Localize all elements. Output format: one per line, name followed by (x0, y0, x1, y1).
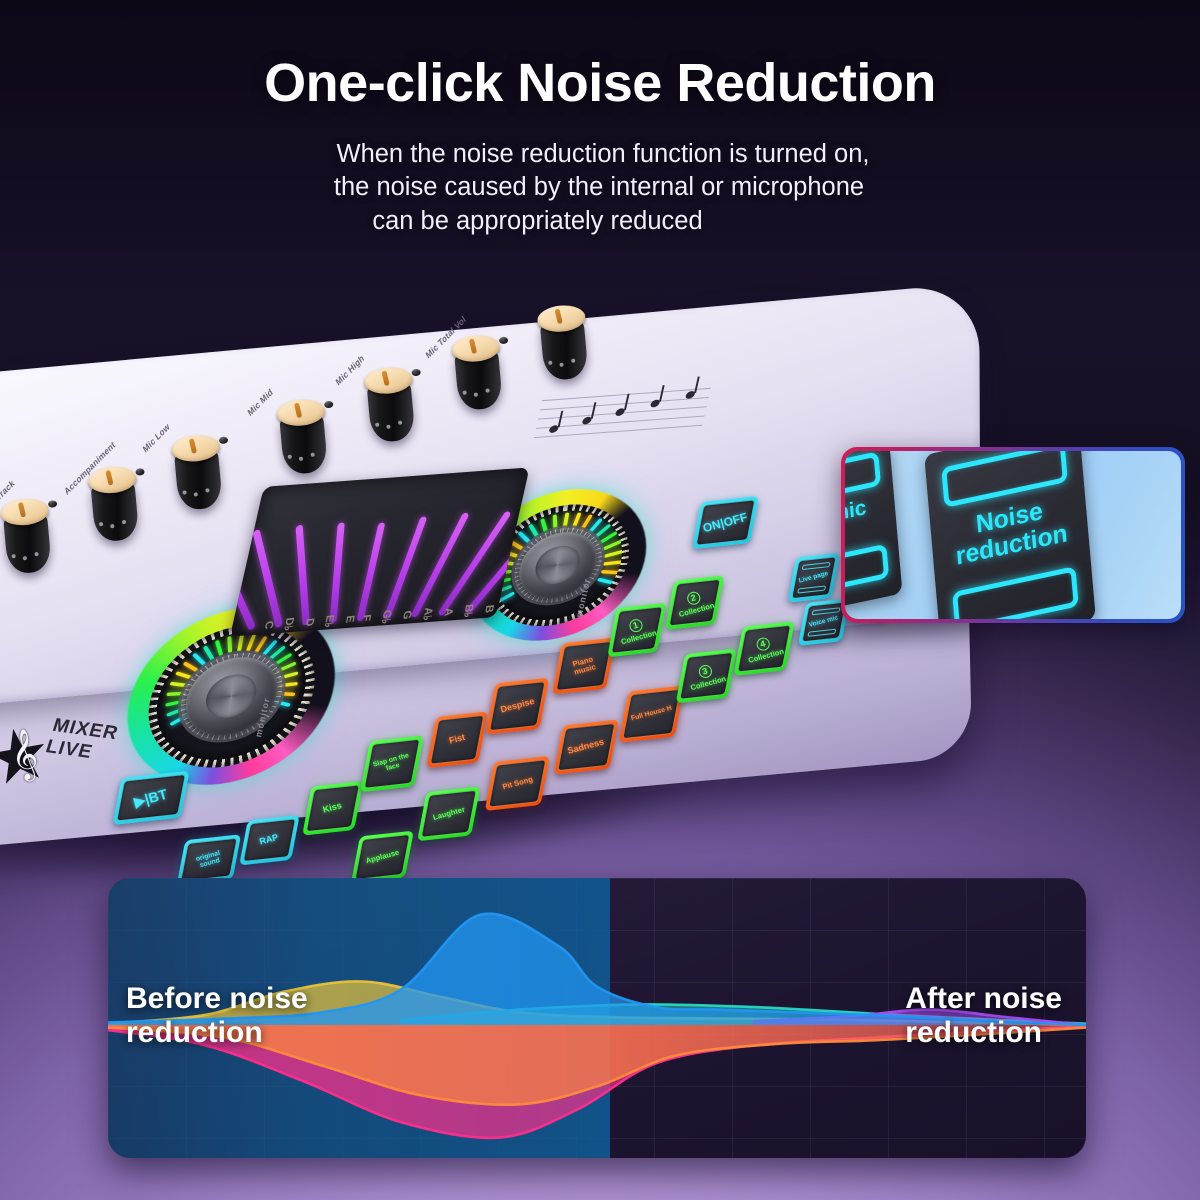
note-scale-letter: A♭ (420, 606, 436, 621)
note-scale-letter: G♭ (378, 609, 394, 624)
pad-face: Pit Song (488, 759, 546, 807)
pad-collection-3[interactable]: 3Collection (676, 649, 737, 704)
magnifier-callout: mic Noise reduction (841, 447, 1185, 623)
knob-label: Mic Low (141, 421, 171, 455)
pad-face: Laughter (421, 790, 477, 838)
music-staff-decoration-right (532, 388, 711, 445)
pad-label: original sound (185, 847, 233, 873)
callout-outline-bottom (952, 566, 1079, 619)
pad-label: 3Collection (686, 660, 727, 691)
pad-number-badge: 3 (697, 663, 713, 679)
pad-on-off-switch[interactable]: ON|OFF (692, 496, 759, 549)
pad-collection-1[interactable]: 1Collection (607, 603, 666, 657)
pad-label: Full House H (630, 705, 672, 723)
subtitle-line-3: can be appropriately reduced (0, 205, 1200, 238)
after-label-line1: After noise (905, 982, 1062, 1015)
display-ray (230, 536, 256, 631)
note-scale-letter: E (343, 615, 356, 624)
note-scale-letter: B (482, 604, 496, 613)
pad-face: Voice mic (801, 602, 846, 643)
pad-label: Applause (365, 849, 400, 866)
pad-label: ON|OFF (702, 511, 749, 535)
brand-name: MIXER LIVE (43, 715, 121, 766)
pad-face: Fist (430, 715, 485, 765)
pad-label: Piano music (560, 653, 607, 680)
before-label-line1: Before noise (126, 982, 308, 1015)
pad-label: RAP (259, 833, 280, 847)
page-title: One-click Noise Reduction (0, 54, 1200, 112)
after-label-line2: reduction (905, 1016, 1042, 1049)
subtitle-line-1: When the noise reduction function is tur… (6, 138, 1200, 171)
callout-inner: mic Noise reduction (845, 451, 1181, 619)
pad-face: Live page (791, 556, 836, 599)
pad-despise[interactable]: Despise (485, 678, 549, 735)
pad-label: ▶|BT (133, 786, 169, 809)
pad-label: Kiss (322, 801, 343, 815)
knob-led-indicator (411, 369, 421, 377)
pad-face: 3Collection (679, 652, 733, 700)
pad-face: RAP (243, 818, 296, 862)
pad-label: Pit Song (501, 776, 533, 792)
pad-kiss[interactable]: Kiss (302, 781, 363, 836)
pad-face: Full House H (622, 689, 681, 739)
knob-led-indicator (48, 500, 58, 508)
header: One-click Noise Reduction When the noise… (0, 54, 1200, 238)
knob-mic-total-vol[interactable] (449, 333, 508, 413)
pad-label: Despise (499, 697, 535, 715)
pad-label: Sadness (567, 738, 605, 757)
pad-fist[interactable]: Fist (426, 711, 488, 768)
pad-live-page[interactable]: Live page (788, 553, 841, 603)
pad-slap-on-the-face[interactable]: Slap on the face (360, 735, 424, 792)
callout-partial-panel: mic (845, 451, 903, 613)
callout-partial-outline-bottom (845, 544, 889, 594)
pad-label: Laughter (432, 806, 466, 822)
pad-label: 1Collection (616, 614, 657, 645)
pad-face: ▶|BT (116, 774, 186, 822)
knob-mic-mid[interactable] (274, 397, 333, 477)
pad-number-badge: 2 (685, 590, 701, 606)
note-scale-letter: A (442, 607, 456, 616)
pad-laughter[interactable]: Laughter (417, 786, 480, 841)
pad-sadness[interactable]: Sadness (554, 720, 619, 775)
pad-face: Slap on the face (364, 739, 421, 789)
pad-collection-2[interactable]: 2Collection (665, 575, 724, 629)
callout-partial-outline-top (845, 451, 881, 501)
knob-led-indicator (324, 401, 334, 409)
callout-noise-reduction-panel: Noise reduction (924, 451, 1096, 619)
pad-face: Piano music (556, 641, 613, 691)
knob-sound-track[interactable] (0, 497, 56, 577)
note-scale-letter: B♭ (461, 603, 477, 618)
knob-mic-low[interactable] (169, 433, 228, 513)
pad-face: 2Collection (669, 579, 721, 627)
pad-label: 4Collection (743, 633, 784, 664)
pad-transport-bt[interactable]: ▶|BT (113, 771, 190, 825)
note-scale-letter: F (359, 614, 372, 622)
pad-face: Despise (489, 681, 546, 731)
pad-label: 2Collection (674, 587, 715, 618)
pad-number-badge: 4 (755, 636, 771, 652)
pad-label: Slap on the face (369, 751, 415, 776)
pad-face: 1Collection (611, 606, 663, 654)
knob-label: Mic Mid (246, 386, 275, 418)
pad-face: 4Collection (737, 625, 791, 673)
knob-led-indicator (135, 468, 145, 476)
pad-collection-4[interactable]: 4Collection (733, 621, 794, 676)
knob-led-indicator (219, 436, 229, 444)
pad-face: Sadness (557, 723, 615, 771)
knob-mic-high[interactable] (361, 365, 420, 445)
waveform-comparison-panel: Before noisereduction After noisereducti… (108, 878, 1086, 1158)
page-subtitle: When the noise reduction function is tur… (0, 138, 1200, 237)
note-scale-letter: D♭ (281, 616, 297, 631)
note-scale-letter: E♭ (322, 614, 337, 628)
note-scale-letter: G (400, 610, 414, 620)
note-scale-letter: C (262, 620, 276, 629)
before-label-line2: reduction (126, 1016, 263, 1049)
pad-number-badge: 1 (628, 617, 644, 633)
label-after-noise-reduction: After noisereduction (905, 982, 1062, 1050)
label-before-noise-reduction: Before noisereduction (126, 982, 308, 1050)
pad-face: ON|OFF (696, 499, 756, 546)
pad-face: original sound (180, 838, 237, 882)
knob-led-indicator (499, 337, 509, 345)
subtitle-line-2: the noise caused by the internal or micr… (0, 171, 1200, 204)
pad-piano-music[interactable]: Piano music (552, 637, 616, 694)
pad-face: Kiss (306, 784, 360, 832)
knob-accompaniment[interactable] (85, 465, 144, 545)
pad-face: Applause (355, 834, 411, 880)
pad-pit-song[interactable]: Pit Song (485, 756, 550, 811)
callout-partial-label: mic (845, 492, 890, 532)
pad-label: Fist (448, 733, 466, 746)
note-scale-letter: D (303, 617, 317, 626)
knob-extra-7[interactable] (534, 303, 593, 383)
pad-full-house-h[interactable]: Full House H (619, 685, 685, 742)
